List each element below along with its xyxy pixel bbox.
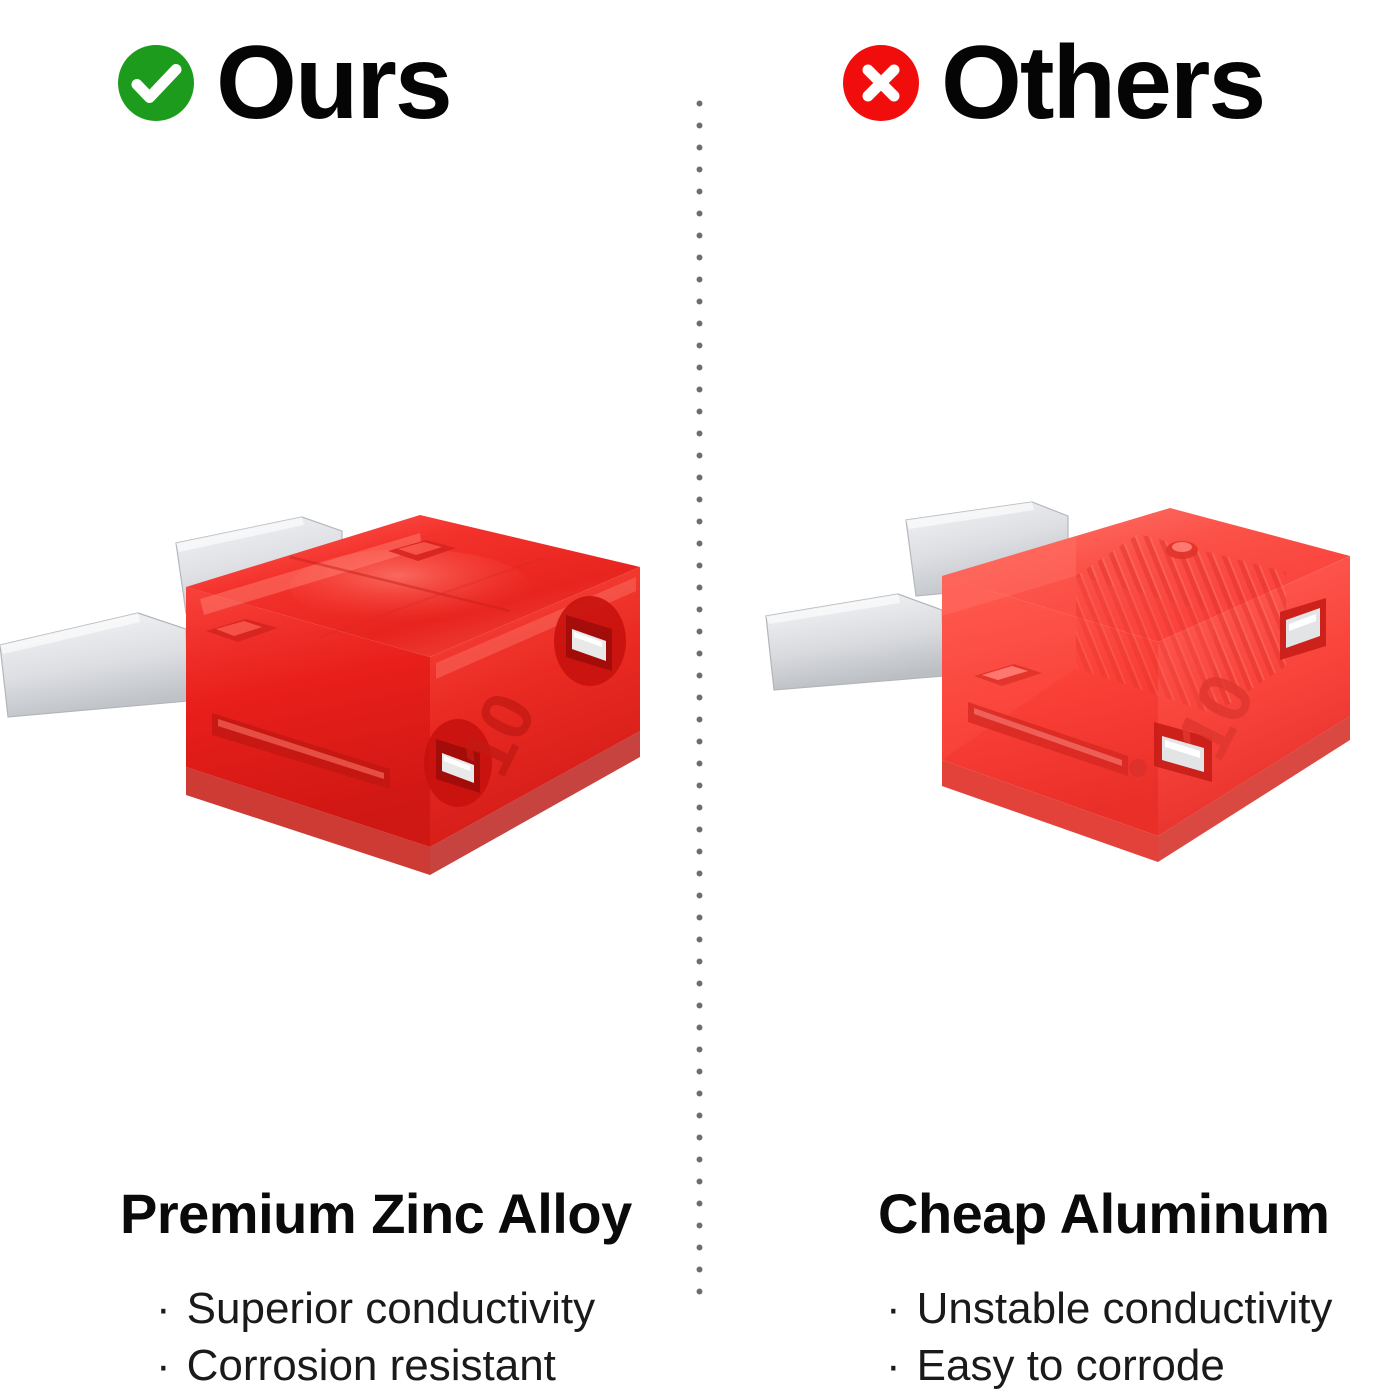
bullet-dot-icon: · [886, 1280, 901, 1337]
comparison-infographic: Ours Others [0, 0, 1381, 1381]
header-ours: Ours [118, 18, 451, 148]
blade-fuse-opaque: 10 [746, 490, 1381, 915]
bullet-dot-icon: · [156, 1280, 171, 1337]
bullet-dot-icon: · [886, 1337, 901, 1394]
product-image-others: 10 [691, 470, 1381, 990]
list-item-label: Superior conductivity [187, 1280, 595, 1337]
list-item: · Corrosion resistant [156, 1337, 680, 1394]
check-circle-icon [118, 45, 194, 121]
caption-ours: Premium Zinc Alloy · Superior conductivi… [120, 1185, 680, 1394]
list-item-label: Easy to corrode [917, 1337, 1225, 1394]
header-others: Others [843, 18, 1264, 148]
caption-title-others: Cheap Aluminum [878, 1185, 1378, 1244]
benefit-list-ours: · Superior conductivity · Corrosion resi… [120, 1280, 680, 1394]
blade-fuse-translucent: 10 [0, 495, 690, 920]
list-item: · Unstable conductivity [886, 1280, 1378, 1337]
list-item: · Easy to corrode [886, 1337, 1378, 1394]
product-image-ours: 10 [0, 470, 690, 990]
caption-title-ours: Premium Zinc Alloy [120, 1185, 680, 1244]
bullet-dot-icon: · [156, 1337, 171, 1394]
list-item-label: Unstable conductivity [917, 1280, 1333, 1337]
x-circle-icon [843, 45, 919, 121]
caption-others: Cheap Aluminum · Unstable conductivity ·… [878, 1185, 1378, 1394]
header-label-ours: Ours [216, 31, 451, 135]
list-item: · Superior conductivity [156, 1280, 680, 1337]
drawback-list-others: · Unstable conductivity · Easy to corrod… [878, 1280, 1378, 1394]
header-label-others: Others [941, 31, 1264, 135]
list-item-label: Corrosion resistant [187, 1337, 556, 1394]
